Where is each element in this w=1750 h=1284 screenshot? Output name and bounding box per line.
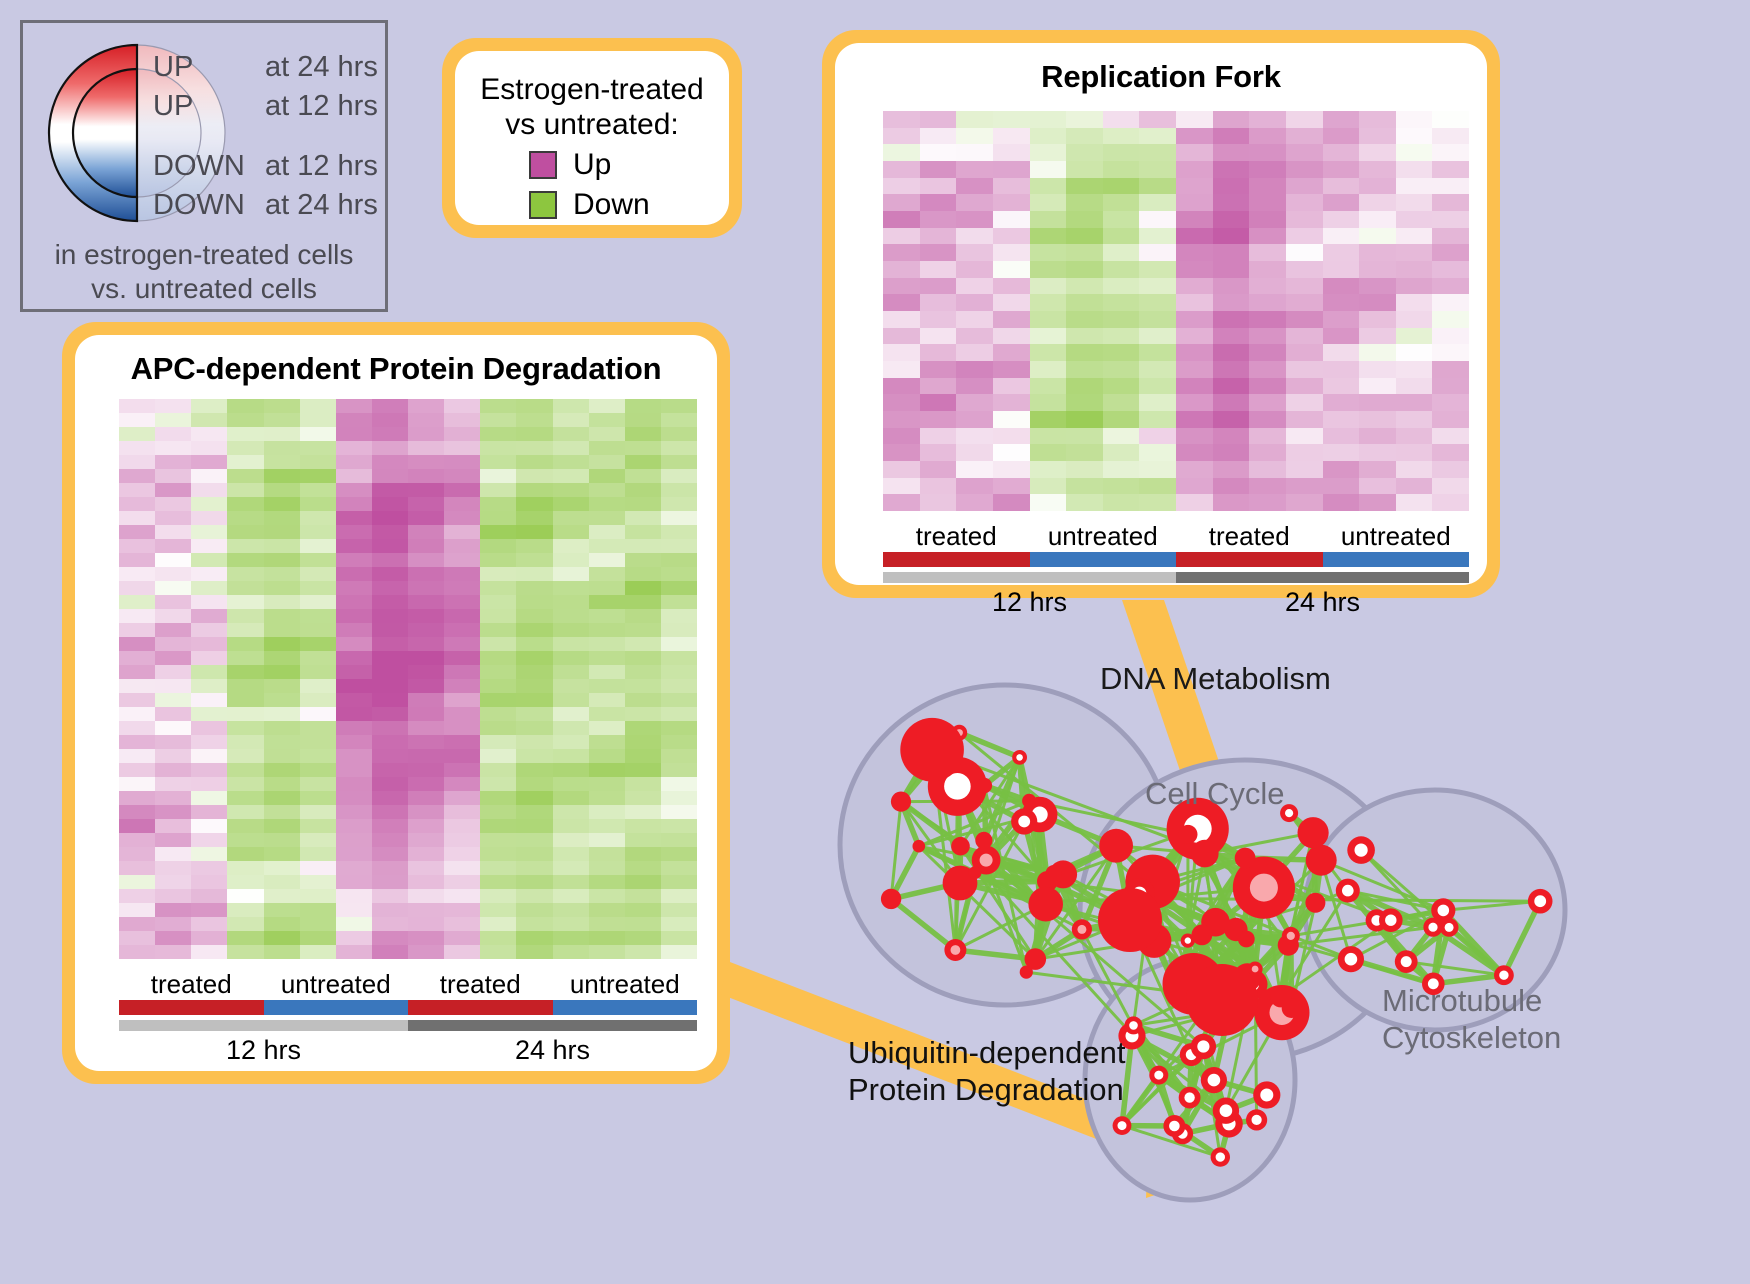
heatmap-cell: [191, 539, 227, 553]
heatmap-cell: [553, 889, 589, 903]
network-node[interactable]: [1025, 948, 1047, 970]
heatmap-cell: [1249, 178, 1286, 195]
network-node-core: [951, 945, 961, 955]
heatmap-cell: [625, 497, 661, 511]
heatmap-cell: [444, 805, 480, 819]
heatmap-cell: [227, 525, 263, 539]
heatmap-cell: [300, 693, 336, 707]
heatmap-cell: [1176, 478, 1213, 495]
heatmap-cell: [191, 861, 227, 875]
legend-item-down: Down: [529, 188, 729, 222]
heatmap-cell: [920, 478, 957, 495]
heatmap-cell: [516, 819, 552, 833]
heatmap-cell: [1396, 361, 1433, 378]
heatmap-cell: [155, 665, 191, 679]
heatmap-cell: [1323, 278, 1360, 295]
heatmap-cell: [1213, 178, 1250, 195]
heatmap-cell: [155, 567, 191, 581]
legend-key-box: UPat 24 hrs UPat 12 hrs DOWNat 12 hrs DO…: [20, 20, 388, 312]
heatmap-cell: [264, 721, 300, 735]
heatmap-cell: [993, 144, 1030, 161]
heatmap-cell: [1432, 294, 1469, 311]
heatmap-cell: [661, 861, 697, 875]
apc-axis: treated untreated treated untreated 12 h: [119, 969, 697, 1066]
heatmap-cell: [1103, 494, 1140, 511]
network-node-core: [1342, 885, 1354, 897]
heatmap-cell: [1249, 128, 1286, 145]
heatmap-cell: [1323, 394, 1360, 411]
heatmap-cell: [956, 278, 993, 295]
heatmap-cell: [372, 931, 408, 945]
heatmap-cell: [444, 525, 480, 539]
heatmap-cell: [444, 791, 480, 805]
heatmap-cell: [227, 707, 263, 721]
heatmap-cell: [553, 777, 589, 791]
heatmap-cell: [480, 651, 516, 665]
heatmap-cell: [264, 749, 300, 763]
heatmap-cell: [589, 777, 625, 791]
heatmap-cell: [920, 328, 957, 345]
heatmap-cell: [408, 763, 444, 777]
down-color-swatch: [529, 191, 557, 219]
heatmap-cell: [1432, 261, 1469, 278]
heatmap-cell: [1103, 211, 1140, 228]
heatmap-cell: [883, 328, 920, 345]
heatmap-cell: [661, 735, 697, 749]
heatmap-cell: [956, 161, 993, 178]
heatmap-cell: [408, 847, 444, 861]
heatmap-cell: [1066, 461, 1103, 478]
heatmap-cell: [625, 749, 661, 763]
heatmap-cell: [372, 651, 408, 665]
heatmap-cell: [1359, 161, 1396, 178]
heatmap-cell: [264, 847, 300, 861]
network-node[interactable]: [977, 778, 993, 794]
heatmap-cell: [1176, 161, 1213, 178]
network-node[interactable]: [1028, 887, 1063, 922]
key-time-2: at 12 hrs: [265, 150, 378, 182]
heatmap-cell: [227, 469, 263, 483]
heatmap-cell: [480, 679, 516, 693]
heatmap-cell: [480, 665, 516, 679]
heatmap-cell: [336, 945, 372, 959]
heatmap-cell: [883, 144, 920, 161]
heatmap-cell: [444, 413, 480, 427]
heatmap-cell: [661, 399, 697, 413]
heatmap-cell: [956, 444, 993, 461]
heatmap-cell: [480, 889, 516, 903]
heatmap-cell: [444, 399, 480, 413]
network-node-core: [1252, 966, 1259, 973]
heatmap-cell: [589, 637, 625, 651]
heatmap-cell: [516, 791, 552, 805]
heatmap-cell: [264, 777, 300, 791]
heatmap-cell: [589, 539, 625, 553]
heatmap-cell: [444, 609, 480, 623]
heatmap-cell: [191, 945, 227, 959]
heatmap-cell: [589, 483, 625, 497]
heatmap-cell: [300, 861, 336, 875]
heatmap-cell: [516, 651, 552, 665]
heatmap-cell: [1249, 211, 1286, 228]
heatmap-cell: [1323, 244, 1360, 261]
heatmap-cell: [191, 525, 227, 539]
heatmap-cell: [1396, 344, 1433, 361]
heatmap-cell: [625, 707, 661, 721]
heatmap-cell: [227, 721, 263, 735]
heatmap-cell: [336, 427, 372, 441]
heatmap-cell: [1103, 328, 1140, 345]
heatmap-cell: [956, 261, 993, 278]
heatmap-cell: [1066, 211, 1103, 228]
heatmap-cell: [661, 427, 697, 441]
heatmap-cell: [1359, 194, 1396, 211]
replication-fork-axis: treated untreated treated untreated 12 h: [883, 521, 1469, 618]
heatmap-cell: [553, 917, 589, 931]
heatmap-cell: [956, 128, 993, 145]
heatmap-cell: [1432, 244, 1469, 261]
heatmap-cell: [227, 875, 263, 889]
apc-inner: APC-dependent Protein Degradation treate…: [75, 335, 717, 1071]
heatmap-cell: [264, 413, 300, 427]
heatmap-cell: [480, 791, 516, 805]
heatmap-cell: [553, 483, 589, 497]
network-node[interactable]: [1191, 840, 1219, 868]
heatmap-cell: [119, 511, 155, 525]
network-node[interactable]: [1305, 893, 1325, 913]
heatmap-cell: [661, 511, 697, 525]
heatmap-cell: [1066, 261, 1103, 278]
heatmap-cell: [1323, 111, 1360, 128]
heatmap-cell: [1396, 194, 1433, 211]
heatmap-cell: [119, 665, 155, 679]
heatmap-cell: [516, 735, 552, 749]
heatmap-cell: [993, 294, 1030, 311]
heatmap-cell: [227, 735, 263, 749]
network-node[interactable]: [1046, 865, 1062, 881]
heatmap-cell: [408, 889, 444, 903]
apc-title: APC-dependent Protein Degradation: [75, 335, 717, 387]
heatmap-cell: [1286, 428, 1323, 445]
heatmap-cell: [1286, 244, 1323, 261]
heatmap-cell: [1030, 461, 1067, 478]
heatmap-cell: [625, 441, 661, 455]
heatmap-cell: [516, 777, 552, 791]
heatmap-cell: [1396, 261, 1433, 278]
heatmap-cell: [1176, 194, 1213, 211]
heatmap-cell: [516, 903, 552, 917]
network-node[interactable]: [951, 837, 970, 856]
heatmap-cell: [516, 861, 552, 875]
heatmap-cell: [336, 595, 372, 609]
network-node[interactable]: [975, 832, 992, 849]
heatmap-cell: [227, 651, 263, 665]
heatmap-cell: [1286, 378, 1323, 395]
heatmap-cell: [1213, 294, 1250, 311]
heatmap-cell: [1030, 311, 1067, 328]
heatmap-cell: [191, 511, 227, 525]
heatmap-cell: [1176, 311, 1213, 328]
heatmap-cell: [553, 749, 589, 763]
network-node[interactable]: [1098, 888, 1162, 952]
heatmap-cell: [444, 749, 480, 763]
heatmap-cell: [1139, 178, 1176, 195]
heatmap-cell: [119, 833, 155, 847]
heatmap-cell: [1396, 128, 1433, 145]
network-node[interactable]: [1298, 817, 1329, 848]
network-node[interactable]: [1235, 848, 1256, 869]
network-node[interactable]: [969, 866, 982, 879]
heatmap-cell: [119, 693, 155, 707]
heatmap-cell: [480, 609, 516, 623]
heatmap-cell: [264, 553, 300, 567]
heatmap-cell: [336, 483, 372, 497]
heatmap-cell: [883, 478, 920, 495]
heatmap-cell: [372, 889, 408, 903]
heatmap-cell: [336, 707, 372, 721]
heatmap-cell: [408, 469, 444, 483]
heatmap-cell: [553, 567, 589, 581]
heatmap-cell: [1213, 461, 1250, 478]
heatmap-cell: [993, 461, 1030, 478]
network-node[interactable]: [1099, 829, 1133, 863]
heatmap-cell: [1359, 178, 1396, 195]
heatmap-cell: [336, 637, 372, 651]
heatmap-cell: [516, 483, 552, 497]
heatmap-cell: [625, 665, 661, 679]
heatmap-cell: [589, 511, 625, 525]
heatmap-cell: [883, 494, 920, 511]
heatmap-cell: [1139, 278, 1176, 295]
heatmap-cell: [372, 511, 408, 525]
heatmap-cell: [227, 903, 263, 917]
rf-bar-treated-12: [883, 552, 1030, 567]
heatmap-cell: [300, 413, 336, 427]
heatmap-cell: [191, 735, 227, 749]
heatmap-cell: [920, 178, 957, 195]
apc-treatment-colorbar: [119, 1000, 697, 1015]
heatmap-cell: [300, 903, 336, 917]
heatmap-cell: [920, 311, 957, 328]
heatmap-cell: [336, 749, 372, 763]
heatmap-cell: [227, 427, 263, 441]
heatmap-cell: [625, 917, 661, 931]
heatmap-cell: [993, 444, 1030, 461]
network-node[interactable]: [1179, 825, 1198, 844]
heatmap-cell: [372, 861, 408, 875]
heatmap-cell: [264, 455, 300, 469]
heatmap-cell: [956, 194, 993, 211]
heatmap-cell: [480, 735, 516, 749]
heatmap-cell: [264, 917, 300, 931]
heatmap-cell: [1066, 344, 1103, 361]
heatmap-cell: [372, 749, 408, 763]
heatmap-cell: [300, 763, 336, 777]
heatmap-cell: [1213, 361, 1250, 378]
heatmap-cell: [1432, 494, 1469, 511]
heatmap-cell: [661, 665, 697, 679]
heatmap-cell: [1066, 378, 1103, 395]
network-node[interactable]: [881, 889, 901, 909]
network-node[interactable]: [1186, 964, 1258, 1036]
network-node[interactable]: [913, 840, 926, 853]
heatmap-cell: [119, 469, 155, 483]
heatmap-cell: [661, 441, 697, 455]
heatmap-cell: [480, 875, 516, 889]
heatmap-cell: [516, 399, 552, 413]
heatmap-cell: [920, 144, 957, 161]
heatmap-cell: [993, 378, 1030, 395]
network-node[interactable]: [900, 718, 964, 782]
heatmap-cell: [589, 805, 625, 819]
heatmap-cell: [625, 833, 661, 847]
heatmap-cell: [1030, 161, 1067, 178]
heatmap-cell: [119, 441, 155, 455]
apc-group-labels: treated untreated treated untreated: [119, 969, 697, 1000]
heatmap-cell: [589, 581, 625, 595]
heatmap-cell: [444, 721, 480, 735]
heatmap-cell: [119, 931, 155, 945]
heatmap-cell: [1249, 161, 1286, 178]
heatmap-cell: [155, 581, 191, 595]
network-diagram: DNA Metabolism Cell Cycle Microtubule Cy…: [790, 620, 1750, 1279]
network-node-core: [1428, 923, 1437, 932]
heatmap-cell: [1323, 444, 1360, 461]
updown-legend-inner: Estrogen-treated vs untreated: Up Down: [455, 51, 729, 225]
heatmap-cell: [589, 763, 625, 777]
heatmap-cell: [408, 749, 444, 763]
heatmap-cell: [119, 889, 155, 903]
heatmap-cell: [444, 567, 480, 581]
network-node[interactable]: [1270, 986, 1291, 1007]
heatmap-cell: [444, 497, 480, 511]
heatmap-cell: [661, 707, 697, 721]
heatmap-cell: [625, 651, 661, 665]
heatmap-cell: [191, 665, 227, 679]
heatmap-cell: [372, 945, 408, 959]
key-dir-0: UP: [153, 51, 265, 84]
heatmap-cell: [1103, 444, 1140, 461]
network-node[interactable]: [891, 792, 911, 812]
heatmap-cell: [336, 777, 372, 791]
heatmap-cell: [1139, 111, 1176, 128]
heatmap-cell: [1030, 178, 1067, 195]
heatmap-cell: [1359, 378, 1396, 395]
heatmap-cell: [372, 707, 408, 721]
heatmap-cell: [372, 455, 408, 469]
heatmap-cell: [119, 651, 155, 665]
heatmap-cell: [1030, 111, 1067, 128]
heatmap-cell: [191, 693, 227, 707]
heatmap-cell: [1323, 461, 1360, 478]
cluster-label-cell-cycle: Cell Cycle: [1145, 775, 1285, 812]
heatmap-cell: [625, 525, 661, 539]
heatmap-cell: [553, 931, 589, 945]
cluster-label-ubiquitin: Ubiquitin-dependent Protein Degradation: [848, 1034, 1126, 1108]
heatmap-cell: [1066, 428, 1103, 445]
heatmap-cell: [589, 595, 625, 609]
heatmap-cell: [408, 819, 444, 833]
heatmap-cell: [1396, 478, 1433, 495]
heatmap-cell: [227, 805, 263, 819]
heatmap-cell: [1249, 444, 1286, 461]
heatmap-cell: [408, 525, 444, 539]
heatmap-cell: [336, 413, 372, 427]
heatmap-cell: [883, 161, 920, 178]
heatmap-cell: [372, 917, 408, 931]
heatmap-cell: [883, 294, 920, 311]
heatmap-cell: [227, 581, 263, 595]
heatmap-cell: [1286, 444, 1323, 461]
heatmap-cell: [155, 441, 191, 455]
network-node[interactable]: [1238, 931, 1255, 948]
heatmap-cell: [589, 413, 625, 427]
key-row-3: DOWNat 24 hrs: [153, 189, 378, 222]
heatmap-cell: [119, 581, 155, 595]
heatmap-cell: [119, 861, 155, 875]
heatmap-cell: [1396, 211, 1433, 228]
heatmap-cell: [155, 903, 191, 917]
heatmap-cell: [444, 945, 480, 959]
heatmap-cell: [993, 344, 1030, 361]
heatmap-cell: [1213, 428, 1250, 445]
heatmap-cell: [1249, 194, 1286, 211]
heatmap-cell: [155, 413, 191, 427]
heatmap-cell: [1139, 261, 1176, 278]
heatmap-cell: [336, 861, 372, 875]
network-node-core: [1129, 1021, 1138, 1030]
heatmap-cell: [1323, 194, 1360, 211]
heatmap-cell: [883, 111, 920, 128]
updown-title-line1: Estrogen-treated: [455, 73, 729, 108]
heatmap-cell: [119, 455, 155, 469]
heatmap-cell: [372, 777, 408, 791]
heatmap-cell: [625, 735, 661, 749]
network-node[interactable]: [1306, 845, 1337, 876]
heatmap-cell: [1030, 378, 1067, 395]
heatmap-cell: [589, 791, 625, 805]
replication-fork-inner: Replication Fork treated untreated treat…: [835, 43, 1487, 585]
heatmap-cell: [119, 707, 155, 721]
heatmap-cell: [155, 707, 191, 721]
heatmap-cell: [336, 553, 372, 567]
heatmap-cell: [1030, 144, 1067, 161]
heatmap-cell: [264, 875, 300, 889]
heatmap-cell: [155, 805, 191, 819]
heatmap-cell: [1396, 311, 1433, 328]
heatmap-cell: [625, 539, 661, 553]
network-node-core: [1018, 816, 1030, 828]
network-node-core: [1016, 754, 1023, 761]
heatmap-cell: [1103, 178, 1140, 195]
heatmap-cell: [480, 567, 516, 581]
heatmap-cell: [883, 444, 920, 461]
heatmap-cell: [227, 847, 263, 861]
heatmap-cell: [336, 931, 372, 945]
heatmap-cell: [264, 805, 300, 819]
network-node[interactable]: [1192, 925, 1213, 946]
heatmap-cell: [625, 623, 661, 637]
network-node-core: [1220, 1104, 1233, 1117]
heatmap-cell: [408, 455, 444, 469]
heatmap-cell: [553, 819, 589, 833]
heatmap-cell: [516, 707, 552, 721]
heatmap-cell: [516, 427, 552, 441]
heatmap-cell: [589, 945, 625, 959]
heatmap-cell: [883, 228, 920, 245]
heatmap-cell: [993, 328, 1030, 345]
heatmap-cell: [516, 847, 552, 861]
